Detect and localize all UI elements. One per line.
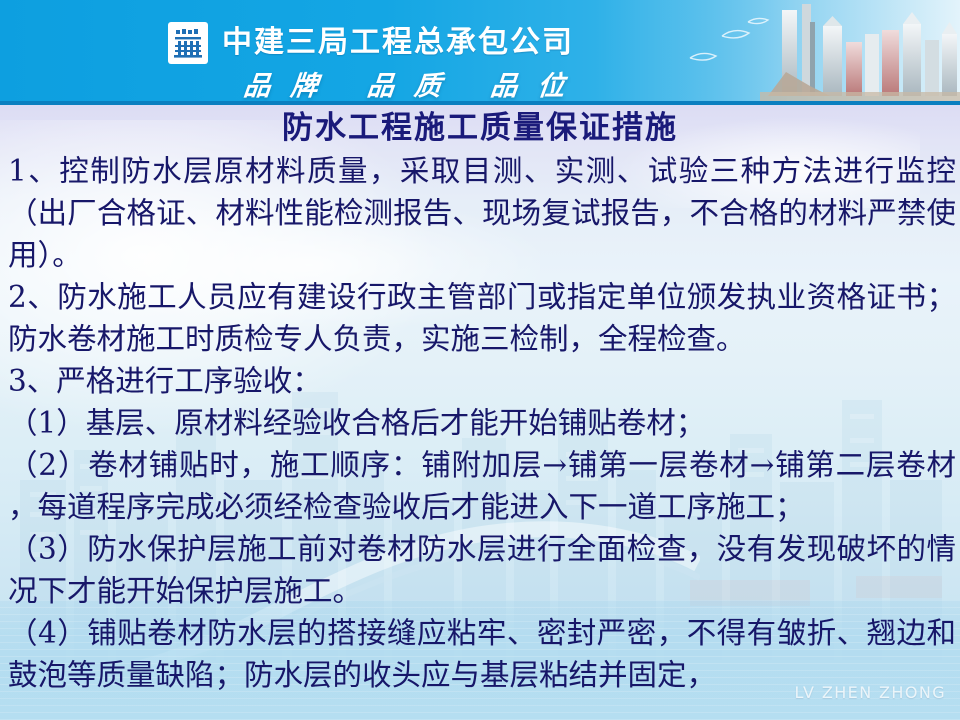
slide-content: 防水工程施工质量保证措施 1、控制防水层原材料质量，采取目测、实测、试验三种方法… (0, 105, 960, 720)
presentation-slide: 中建三局工程总承包公司 品牌 品质 品位 防水工程施工质量保证措施 1、控制防水… (0, 0, 960, 720)
banner-text-group: 中建三局工程总承包公司 品牌 品质 品位 (168, 0, 728, 105)
paragraph-item-3-4: （4）铺贴卷材防水层的搭接缝应粘牢、密封严密，不得有皱折、翘边和鼓泡等质量缺陷；… (8, 612, 956, 696)
company-tagline: 品牌 品质 品位 (242, 64, 587, 103)
paragraph-item-2: 2、防水施工人员应有建设行政主管部门或指定单位颁发执业资格证书；防水卷材施工时质… (8, 276, 956, 360)
company-logo-row: 中建三局工程总承包公司 (168, 22, 574, 64)
paragraph-item-1: 1、控制防水层原材料质量，采取目测、实测、试验三种方法进行监控（出厂合格证、材料… (8, 150, 956, 276)
paragraph-item-3-2: （2）卷材铺贴时，施工顺序：铺附加层→铺第一层卷材→铺第二层卷材 ，每道程序完成… (8, 444, 956, 528)
paragraph-item-3-3: （3）防水保护层施工前对卷材防水层进行全面检查，没有发现破坏的情况下才能开始保护… (8, 528, 956, 612)
paragraph-item-3: 3、严格进行工序验收： (8, 360, 956, 402)
paragraph-item-3-1: （1）基层、原材料经验收合格后才能开始铺贴卷材； (8, 402, 956, 444)
company-banner: 中建三局工程总承包公司 品牌 品质 品位 (0, 0, 960, 105)
slide-body: 1、控制防水层原材料质量，采取目测、实测、试验三种方法进行监控（出厂合格证、材料… (0, 148, 960, 696)
cscec-logo-icon (168, 22, 208, 64)
slide-title: 防水工程施工质量保证措施 (0, 105, 960, 148)
company-name: 中建三局工程总承包公司 (222, 28, 574, 58)
